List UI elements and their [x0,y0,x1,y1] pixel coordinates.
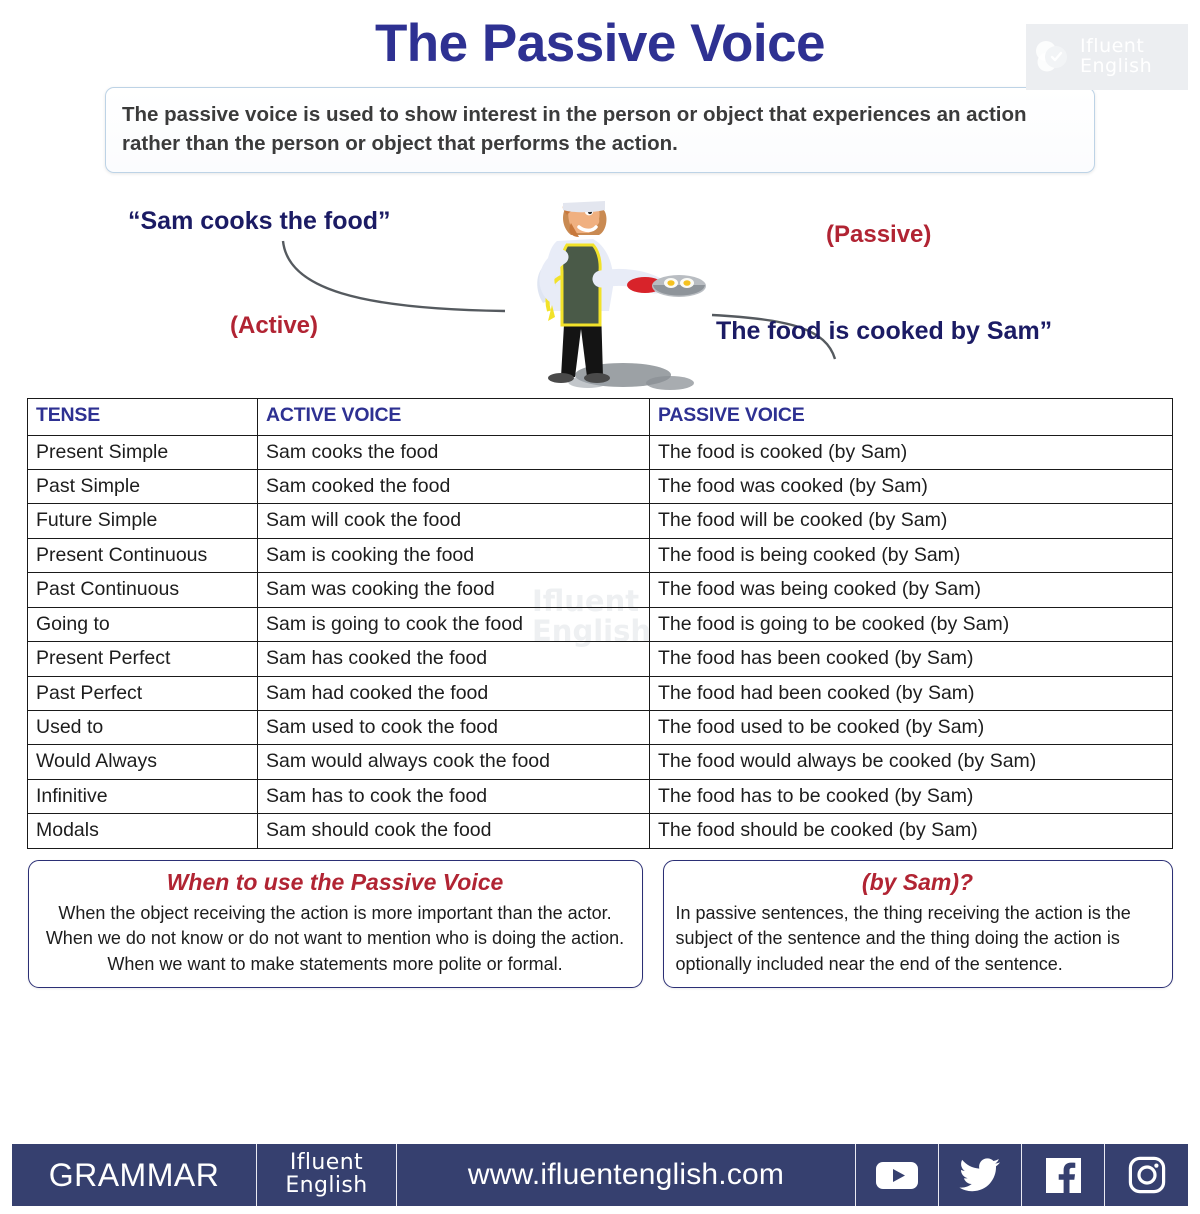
table-row: Present ContinuousSam is cooking the foo… [28,538,1173,572]
footer-logo-line1: Ifluent [290,1150,363,1175]
footer-website-link[interactable]: www.ifluentenglish.com [397,1144,856,1206]
table-row: Past SimpleSam cooked the foodThe food w… [28,470,1173,504]
cell-active-voice: Sam cooks the food [258,435,650,469]
brand-watermark: Ifluent English [1026,24,1188,90]
page-title: The Passive Voice [0,14,1200,75]
notes-row: When to use the Passive Voice When the o… [28,860,1173,989]
cell-passive-voice: The food is cooked (by Sam) [650,435,1173,469]
note-left-line-2: When we do not know or do not want to me… [41,926,630,952]
illustration-band: “Sam cooks the food” (Active) (Passive) … [0,179,1200,394]
table-header-row: TENSE ACTIVE VOICE PASSIVE VOICE [28,399,1173,435]
table-row: Present SimpleSam cooks the foodThe food… [28,435,1173,469]
footer-bar: GRAMMAR Ifluent English www.ifluentengli… [12,1144,1188,1206]
cell-active-voice: Sam cooked the food [258,470,650,504]
cell-tense: Present Simple [28,435,258,469]
table-row: Past PerfectSam had cooked the foodThe f… [28,676,1173,710]
cell-passive-voice: The food will be cooked (by Sam) [650,504,1173,538]
cell-tense: Modals [28,814,258,848]
cell-tense: Infinitive [28,779,258,813]
passive-voice-tag: (Passive) [826,221,931,249]
note-left-line-3: When we want to make statements more pol… [41,952,630,978]
column-header-tense: TENSE [28,399,258,435]
definition-box: The passive voice is used to show intere… [105,87,1095,173]
passive-phrase: The food is cooked by Sam” [716,317,1052,346]
table-row: Present PerfectSam has cooked the foodTh… [28,642,1173,676]
note-left-line-1: When the object receiving the action is … [41,901,630,927]
cell-tense: Past Continuous [28,573,258,607]
cell-passive-voice: The food had been cooked (by Sam) [650,676,1173,710]
cell-tense: Past Perfect [28,676,258,710]
active-voice-tag: (Active) [230,312,318,340]
active-phrase: “Sam cooks the food” [128,207,391,236]
note-box-by-sam: (by Sam)? In passive sentences, the thin… [663,860,1173,989]
cell-active-voice: Sam used to cook the food [258,710,650,744]
note-right-line-2: subject of the sentence and the thing do… [676,926,1160,952]
cell-active-voice: Sam has to cook the food [258,779,650,813]
cell-tense: Present Continuous [28,538,258,572]
passive-voice-table: TENSE ACTIVE VOICE PASSIVE VOICE Present… [27,398,1173,848]
footer-logo-line2: English [285,1173,367,1198]
cell-tense: Would Always [28,745,258,779]
note-right-line-3: optionally included near the end of the … [676,952,1160,978]
speech-bubbles-icon [1032,36,1074,78]
cell-active-voice: Sam is cooking the food [258,538,650,572]
table-row: Future SimpleSam will cook the foodThe f… [28,504,1173,538]
cell-passive-voice: The food has been cooked (by Sam) [650,642,1173,676]
cell-passive-voice: The food was cooked (by Sam) [650,470,1173,504]
cell-active-voice: Sam should cook the food [258,814,650,848]
youtube-icon[interactable] [856,1144,939,1206]
footer-category: GRAMMAR [12,1144,257,1206]
table-row: InfinitiveSam has to cook the foodThe fo… [28,779,1173,813]
facebook-icon[interactable] [1022,1144,1105,1206]
cell-passive-voice: The food should be cooked (by Sam) [650,814,1173,848]
cell-tense: Going to [28,607,258,641]
cell-active-voice: Sam has cooked the food [258,642,650,676]
cell-passive-voice: The food has to be cooked (by Sam) [650,779,1173,813]
table-row: ModalsSam should cook the foodThe food s… [28,814,1173,848]
footer-website-label: www.ifluentenglish.com [468,1158,784,1192]
cell-active-voice: Sam would always cook the food [258,745,650,779]
cell-passive-voice: The food is being cooked (by Sam) [650,538,1173,572]
column-header-passive-voice: PASSIVE VOICE [650,399,1173,435]
column-header-active-voice: ACTIVE VOICE [258,399,650,435]
table-row: Going toSam is going to cook the foodThe… [28,607,1173,641]
cell-passive-voice: The food is going to be cooked (by Sam) [650,607,1173,641]
cell-passive-voice: The food was being cooked (by Sam) [650,573,1173,607]
note-box-when-to-use: When to use the Passive Voice When the o… [28,860,643,989]
definition-line-1: The passive voice is used to show intere… [122,103,931,126]
table-row: Used toSam used to cook the foodThe food… [28,710,1173,744]
table-row: Past ContinuousSam was cooking the foodT… [28,573,1173,607]
brand-name-line2: English [1080,55,1152,77]
cell-active-voice: Sam will cook the food [258,504,650,538]
cell-tense: Past Simple [28,470,258,504]
cell-active-voice: Sam is going to cook the food [258,607,650,641]
cell-tense: Used to [28,710,258,744]
cell-passive-voice: The food would always be cooked (by Sam) [650,745,1173,779]
table-row: Would AlwaysSam would always cook the fo… [28,745,1173,779]
note-left-title: When to use the Passive Voice [41,869,630,896]
note-right-title: (by Sam)? [676,869,1160,896]
cell-tense: Future Simple [28,504,258,538]
twitter-icon[interactable] [939,1144,1022,1206]
brand-name-line1: Ifluent [1080,35,1144,57]
instagram-icon[interactable] [1105,1144,1188,1206]
cell-active-voice: Sam had cooked the food [258,676,650,710]
note-right-line-1: In passive sentences, the thing receivin… [676,901,1160,927]
footer-category-label: GRAMMAR [49,1157,220,1194]
cell-active-voice: Sam was cooking the food [258,573,650,607]
chef-illustration [505,179,720,394]
cell-passive-voice: The food used to be cooked (by Sam) [650,710,1173,744]
cell-tense: Present Perfect [28,642,258,676]
footer-logo: Ifluent English [257,1144,397,1206]
